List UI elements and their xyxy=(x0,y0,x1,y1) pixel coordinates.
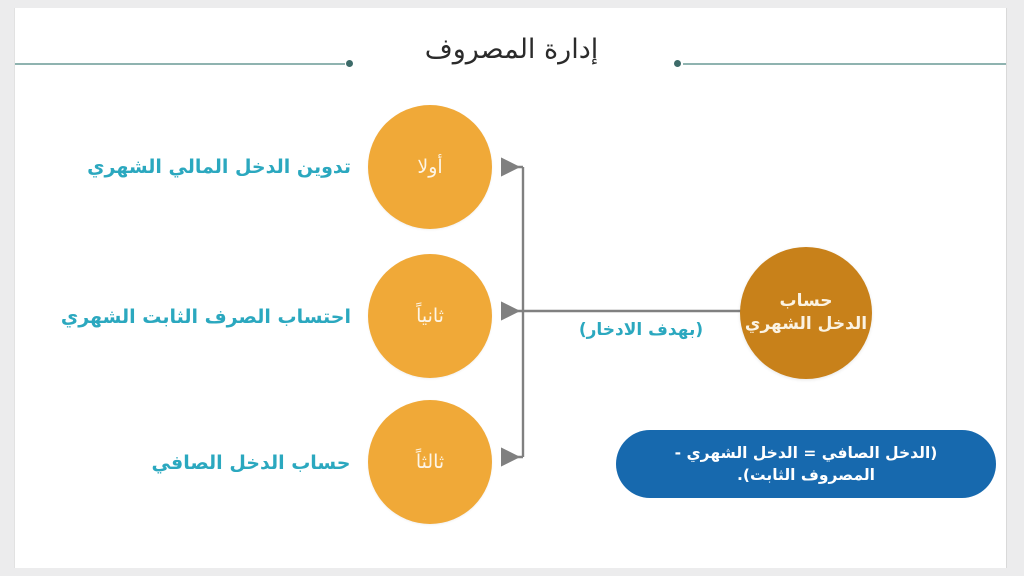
page-title: إدارة المصروف xyxy=(15,34,1007,65)
title-dot-right xyxy=(674,60,681,67)
title-rule-left xyxy=(15,63,345,65)
step-circle-3[interactable]: ثالثاً xyxy=(368,400,492,524)
title-dot-left xyxy=(346,60,353,67)
arrow-annotation-label: (بهدف الادخار) xyxy=(551,320,731,340)
slide-canvas: إدارة المصروف (بهدف الادخار) أولا ت xyxy=(14,8,1007,568)
title-rule-right xyxy=(683,63,1007,65)
slide-header: إدارة المصروف xyxy=(15,8,1007,80)
step-description-1: تدوين الدخل المالي الشهري xyxy=(91,156,351,178)
slide-root: إدارة المصروف (بهدف الادخار) أولا ت xyxy=(0,0,1024,576)
source-node-line-2: الدخل الشهري xyxy=(745,313,867,336)
step-circle-2[interactable]: ثانياً xyxy=(368,254,492,378)
formula-callout: (الدخل الصافي = الدخل الشهري - المصروف ا… xyxy=(616,430,996,498)
step-description-3: حساب الدخل الصافي xyxy=(151,452,351,474)
step-description-2: احتساب الصرف الثابت الشهري xyxy=(71,306,351,328)
step-circle-1[interactable]: أولا xyxy=(368,105,492,229)
step-order-label-1: أولا xyxy=(417,156,442,178)
source-node-line-1: حساب xyxy=(779,290,832,313)
source-node-circle[interactable]: حساب الدخل الشهري xyxy=(740,247,872,379)
step-order-label-2: ثانياً xyxy=(416,305,444,327)
step-order-label-3: ثالثاً xyxy=(416,451,444,473)
